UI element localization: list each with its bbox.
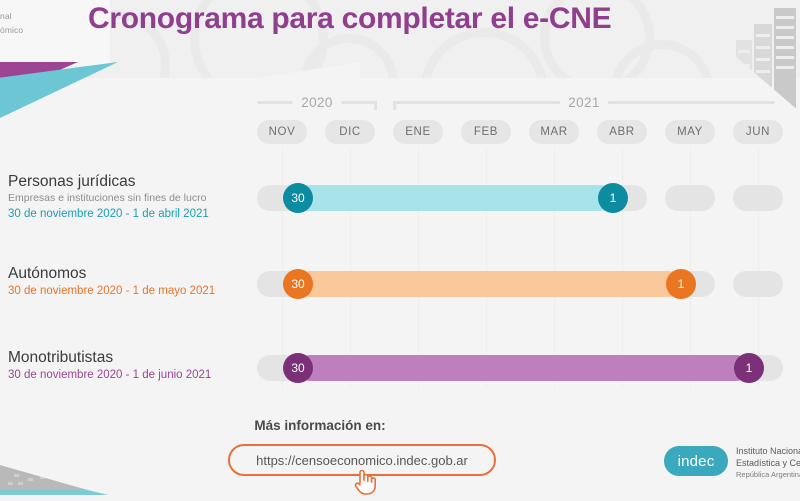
gridline [486,148,487,388]
timeline-start-knob[interactable]: 30 [283,353,313,383]
pointing-hand-icon [352,466,378,496]
month-pill-nov[interactable]: NOV [257,120,307,144]
timeline-track-personas-juridicas: 30 1 [257,185,783,211]
year-line-left [257,101,293,104]
indec-institution-text: Instituto Nacional Estadística y Cen Rep… [736,446,800,481]
row-label-monotributistas: Monotributistas 30 de noviembre 2020 - 1… [8,348,211,384]
timeline-start-knob[interactable]: 30 [283,269,313,299]
year-axis: 2020 2021 [0,92,800,112]
timeline-end-knob[interactable]: 1 [734,353,764,383]
row-dates: 30 de noviembre 2020 - 1 de mayo 2021 [8,283,215,300]
year-line-right [608,101,775,104]
row-label-personas-juridicas: Personas jurídicas Empresas e institucio… [8,172,209,223]
gridline [418,148,419,388]
year-line-left [393,101,560,104]
gridline [622,148,623,388]
timeline-end-knob[interactable]: 1 [666,269,696,299]
gridline [758,148,759,388]
year-line-right [341,101,377,104]
timeline-track-monotributistas: 30 1 [257,355,783,381]
month-pill-mar[interactable]: MAR [529,120,579,144]
year-group-2020: 2020 [257,92,377,112]
track-segment [665,185,715,211]
indec-logo: indec [664,446,728,476]
indec-line-1: Instituto Nacional [736,446,800,458]
gridline [350,148,351,388]
month-axis: NOV DIC ENE FEB MAR ABR MAY JUN [0,120,800,144]
timeline-bar-personas-juridicas[interactable] [297,185,613,211]
year-label: 2020 [301,95,333,110]
indec-line-3: República Argentina [736,469,800,481]
row-dates: 30 de noviembre 2020 - 1 de junio 2021 [8,367,211,384]
month-pill-ene[interactable]: ENE [393,120,443,144]
year-group-2021: 2021 [393,92,775,112]
month-pill-abr[interactable]: ABR [597,120,647,144]
track-segment [733,271,783,297]
row-subtitle: Empresas e instituciones sin fines de lu… [8,191,209,206]
timeline-start-knob[interactable]: 30 [283,183,313,213]
month-pill-dic[interactable]: DIC [325,120,375,144]
year-label: 2021 [568,95,600,110]
row-dates: 30 de noviembre 2020 - 1 de abril 2021 [8,206,209,223]
track-segment [733,185,783,211]
more-info-label: Más información en: [0,418,640,433]
timeline-bar-monotributistas[interactable] [297,355,749,381]
row-title: Autónomos [8,264,215,283]
row-title: Monotributistas [8,348,211,367]
month-pill-feb[interactable]: FEB [461,120,511,144]
timeline-track-autonomos: 30 1 [257,271,783,297]
timeline-bar-autonomos[interactable] [297,271,681,297]
timeline-end-knob[interactable]: 1 [598,183,628,213]
month-pill-jun[interactable]: JUN [733,120,783,144]
indec-line-2: Estadística y Cen [736,458,800,470]
month-pill-may[interactable]: MAY [665,120,715,144]
gridline [690,148,691,388]
row-label-autonomos: Autónomos 30 de noviembre 2020 - 1 de ma… [8,264,215,300]
gridline [554,148,555,388]
gridline [282,148,283,388]
row-title: Personas jurídicas [8,172,209,191]
